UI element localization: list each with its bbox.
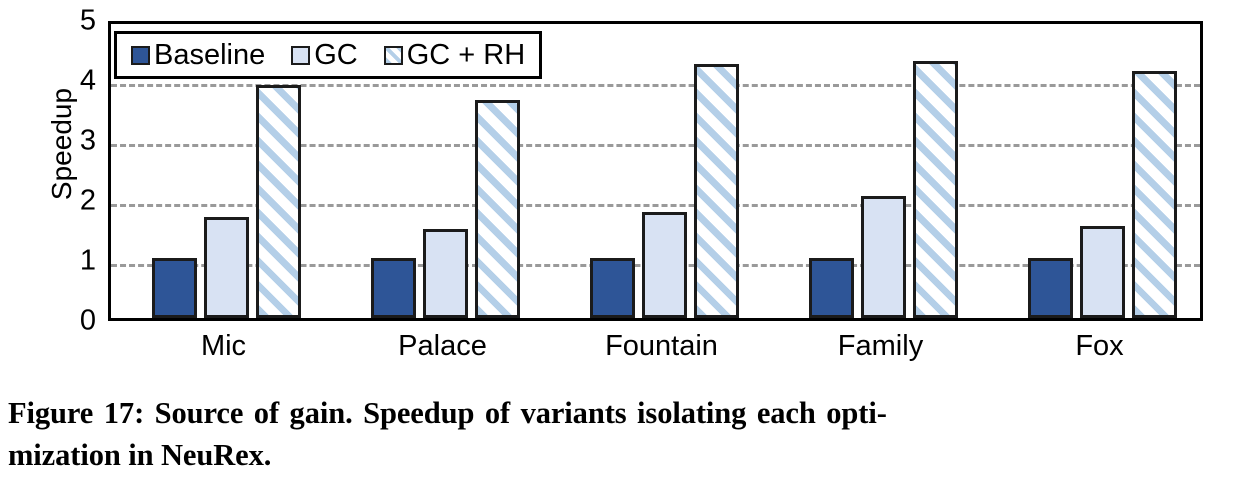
legend-label: GC <box>314 41 358 70</box>
x-axis-tick-labels: MicPalaceFountainFamilyFox <box>108 330 1203 376</box>
x-axis-tick-family: Family <box>838 330 923 363</box>
legend-label: GC + RH <box>407 41 525 70</box>
bar-chart: Speedup 012345 MicPalaceFountainFamilyFo… <box>0 0 1237 380</box>
bar-fox-gc-rh[interactable] <box>1132 71 1177 318</box>
legend-label: Baseline <box>154 41 265 70</box>
figure-caption: Figure 17: Source of gain. Speedup of va… <box>8 392 1223 476</box>
y-axis-tick-labels: 012345 <box>56 21 96 321</box>
bar-fox-baseline[interactable] <box>1028 258 1073 318</box>
bar-palace-gc[interactable] <box>423 229 468 318</box>
legend-item-gc-rh[interactable]: GC + RH <box>384 41 525 70</box>
bar-group-fountain <box>590 24 739 318</box>
legend-swatch-icon-gc-rh <box>384 46 403 65</box>
legend-item-baseline[interactable]: Baseline <box>131 41 265 70</box>
y-axis-tick-0: 0 <box>56 307 96 336</box>
x-axis-tick-fox: Fox <box>1075 330 1123 363</box>
y-axis-tick-4: 4 <box>56 67 96 96</box>
bar-palace-gc-rh[interactable] <box>475 100 520 318</box>
chart-legend: BaselineGCGC + RH <box>114 31 542 79</box>
bar-fox-gc[interactable] <box>1080 226 1125 318</box>
bar-group-fox <box>1028 24 1177 318</box>
caption-line-1: Figure 17: Source of gain. Speedup of va… <box>8 392 1223 434</box>
bar-family-baseline[interactable] <box>809 258 854 318</box>
x-axis-tick-fountain: Fountain <box>605 330 718 363</box>
y-axis-tick-5: 5 <box>56 7 96 36</box>
bar-fountain-gc-rh[interactable] <box>694 64 739 318</box>
y-axis-tick-2: 2 <box>56 187 96 216</box>
legend-item-gc[interactable]: GC <box>291 41 358 70</box>
bar-fountain-gc[interactable] <box>642 212 687 318</box>
bar-family-gc-rh[interactable] <box>913 61 958 318</box>
bar-palace-baseline[interactable] <box>371 258 416 318</box>
bar-group-family <box>809 24 958 318</box>
figure-17: Speedup 012345 MicPalaceFountainFamilyFo… <box>0 0 1237 488</box>
y-axis-tick-3: 3 <box>56 127 96 156</box>
bar-mic-gc[interactable] <box>204 217 249 318</box>
caption-line-2: mization in NeuRex. <box>8 434 1223 476</box>
x-axis-tick-palace: Palace <box>398 330 487 363</box>
bar-family-gc[interactable] <box>861 196 906 318</box>
x-axis-tick-mic: Mic <box>201 330 246 363</box>
legend-swatch-icon-gc <box>291 46 310 65</box>
y-axis-tick-1: 1 <box>56 247 96 276</box>
bar-mic-baseline[interactable] <box>152 258 197 318</box>
bar-fountain-baseline[interactable] <box>590 258 635 318</box>
bar-mic-gc-rh[interactable] <box>256 85 301 318</box>
legend-swatch-icon-baseline <box>131 46 150 65</box>
